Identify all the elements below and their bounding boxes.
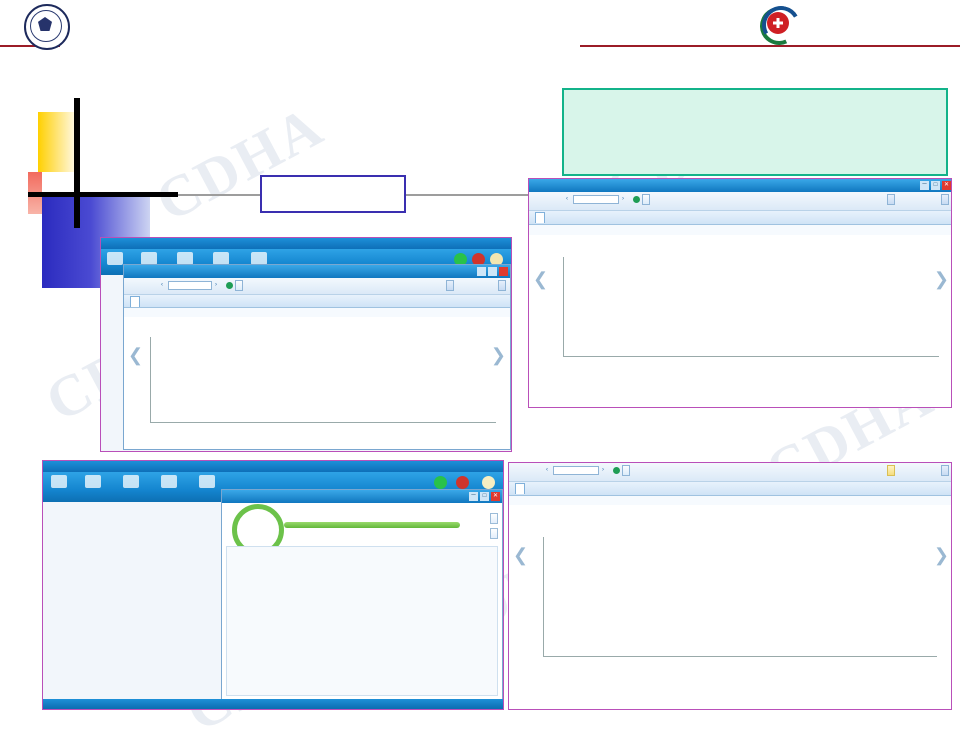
close-button[interactable]: ✕ xyxy=(491,492,500,501)
ribbon-icon-monitor[interactable] xyxy=(51,475,67,488)
ribbon-icon-dispatch[interactable] xyxy=(199,475,215,488)
query-button[interactable] xyxy=(622,465,630,476)
tab-supply-return-analysis[interactable] xyxy=(515,483,525,494)
query-button[interactable] xyxy=(235,280,243,291)
ribbon-status-normal-icon xyxy=(434,476,447,489)
chart-bars xyxy=(545,537,937,656)
dialog-toolbar[interactable]: ‹ › xyxy=(529,192,952,211)
ribbon-icon-monitor[interactable] xyxy=(107,252,123,265)
status-bar xyxy=(43,699,503,709)
slide-header xyxy=(0,0,960,52)
prev-date-icon[interactable]: ‹ xyxy=(566,196,568,202)
score-track xyxy=(284,522,460,528)
date-input[interactable] xyxy=(553,466,599,475)
minimize-button[interactable]: － xyxy=(469,492,478,501)
prev-date-icon[interactable]: ‹ xyxy=(546,467,548,473)
query-icon[interactable] xyxy=(633,196,640,203)
dialog-title-bar: － □ ✕ xyxy=(529,179,952,192)
dialog-tabs[interactable] xyxy=(124,295,510,308)
query-icon[interactable] xyxy=(226,282,233,289)
chart-plot-area xyxy=(543,537,937,657)
log-query-button[interactable] xyxy=(887,194,895,205)
maximize-button[interactable] xyxy=(488,267,497,276)
chart-x-axis-labels xyxy=(151,422,496,438)
next-date-icon[interactable]: › xyxy=(602,467,604,473)
dialog-station-temp[interactable]: ‹ › ❮ ❯ xyxy=(509,463,952,710)
maximize-button[interactable]: □ xyxy=(480,492,489,501)
dialog-hydraulic-balance[interactable]: － □ ✕ ‹ › ❮ ❯ xyxy=(529,179,952,408)
next-date-icon[interactable]: › xyxy=(215,282,217,288)
log-export-button[interactable] xyxy=(941,465,949,476)
log-query-button[interactable] xyxy=(446,280,454,291)
log-export-button[interactable] xyxy=(941,194,949,205)
analysis-scoreboard xyxy=(222,503,502,543)
tab-supply-return-analysis[interactable] xyxy=(130,296,140,307)
chart-bars xyxy=(152,337,496,422)
application-layer-callout xyxy=(562,88,948,176)
query-icon[interactable] xyxy=(613,467,620,474)
company-mark-icon xyxy=(760,6,798,42)
window-hydraulic-balance[interactable]: － □ ✕ ‹ › ❮ ❯ xyxy=(528,178,952,408)
window-station-temp[interactable]: ‹ › ❮ ❯ xyxy=(508,462,952,710)
ribbon-icon-gis[interactable] xyxy=(85,475,101,488)
company-logo xyxy=(760,2,950,46)
chart-bars xyxy=(565,257,939,356)
log-query-button[interactable] xyxy=(887,465,895,476)
close-button[interactable] xyxy=(499,267,508,276)
chart-x-axis-labels xyxy=(564,356,939,372)
chart-plot-area xyxy=(563,257,939,357)
chart-title xyxy=(509,505,952,515)
dialog-toolbar[interactable]: ‹ › xyxy=(509,463,952,482)
dialog-tabs[interactable] xyxy=(529,211,952,225)
watermark: CDHA xyxy=(145,92,334,235)
header-rule-gap xyxy=(60,43,580,49)
reanalyze-button[interactable] xyxy=(490,513,498,524)
export-button[interactable] xyxy=(490,528,498,539)
chart-plot-area xyxy=(150,337,496,423)
app-title-bar xyxy=(101,238,511,249)
deco-vertical-bar xyxy=(74,98,80,228)
chart-rongxin: ❮ ❯ xyxy=(124,317,510,449)
section-label-primary-network xyxy=(260,175,406,213)
ribbon-status-comm-icon xyxy=(456,476,469,489)
window-intelligent-analysis[interactable]: － □ ✕ xyxy=(42,460,504,710)
tab-balance-analysis[interactable] xyxy=(535,212,545,223)
minimize-button[interactable] xyxy=(477,267,486,276)
dialog-intelligent-analysis[interactable]: － □ ✕ xyxy=(221,489,503,701)
dialog-toolbar[interactable]: ‹ › xyxy=(124,278,510,295)
prev-chart-icon[interactable]: ❮ xyxy=(513,545,528,566)
ribbon-icon-analysis[interactable] xyxy=(123,475,139,488)
deco-horizontal-bar xyxy=(28,192,178,197)
dialog-title-bar: － □ ✕ xyxy=(222,490,502,503)
prev-chart-icon[interactable]: ❮ xyxy=(533,269,548,290)
prev-date-icon[interactable]: ‹ xyxy=(161,282,163,288)
ribbon-status-saving-icon xyxy=(482,476,495,489)
analysis-sections xyxy=(226,546,498,696)
minimize-button[interactable]: － xyxy=(920,181,929,190)
chart-title xyxy=(124,317,510,323)
dialog-title-bar xyxy=(124,265,510,278)
window-supply-return-temp[interactable]: ‹ › ❮ ❯ xyxy=(100,237,512,452)
chart-title xyxy=(529,235,952,241)
close-button[interactable]: ✕ xyxy=(942,181,951,190)
chart-unit-flow: ❮ ❯ xyxy=(529,235,952,408)
maximize-button[interactable]: □ xyxy=(931,181,940,190)
app-title-bar xyxy=(43,461,503,472)
chart-x-axis-labels xyxy=(544,656,937,672)
log-export-button[interactable] xyxy=(498,280,506,291)
dialog-supply-return-temp[interactable]: ‹ › ❮ ❯ xyxy=(123,264,511,450)
chart-xingtai01: ❮ ❯ xyxy=(509,505,952,710)
next-date-icon[interactable]: › xyxy=(622,196,624,202)
prev-chart-icon[interactable]: ❮ xyxy=(128,345,143,366)
date-input[interactable] xyxy=(573,195,619,204)
date-input[interactable] xyxy=(168,281,212,290)
query-button[interactable] xyxy=(642,194,650,205)
university-emblem-icon xyxy=(24,4,70,50)
dialog-tabs[interactable] xyxy=(509,482,952,496)
ribbon-icon-report[interactable] xyxy=(161,475,177,488)
